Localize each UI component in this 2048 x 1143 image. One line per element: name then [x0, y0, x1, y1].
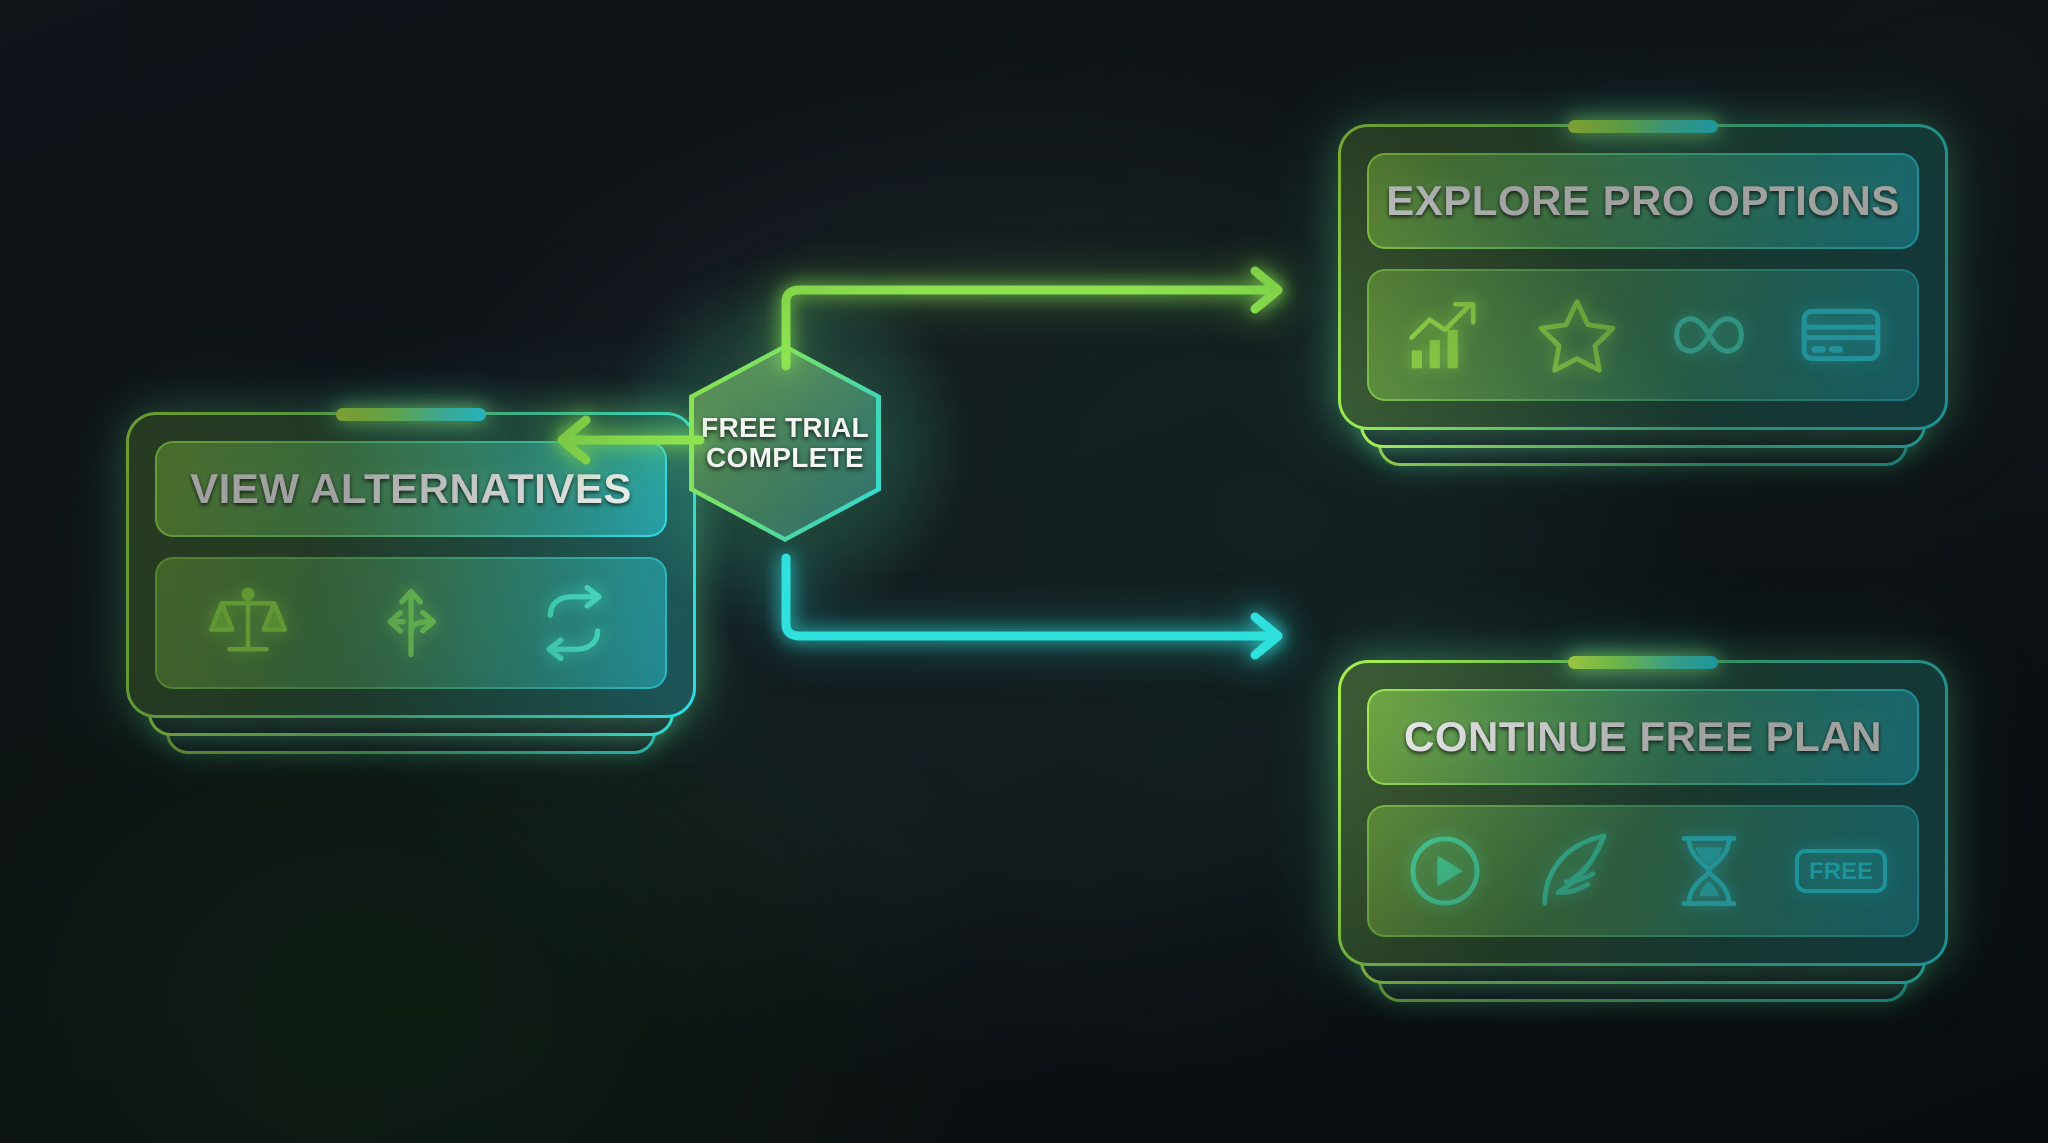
card-title: CONTINUE FREE PLAN — [1404, 713, 1882, 761]
growth-chart-icon — [1399, 289, 1491, 381]
card-accent-tab — [1568, 120, 1718, 133]
star-icon — [1531, 289, 1623, 381]
card-title-box: CONTINUE FREE PLAN — [1367, 689, 1919, 785]
wing-icon — [1531, 825, 1623, 917]
card-icon-row: FREE — [1367, 805, 1919, 937]
hub-node-free-trial-complete[interactable]: FREE TRIAL COMPLETE — [689, 344, 881, 542]
hourglass-icon — [1663, 825, 1755, 917]
free-badge-icon: FREE — [1795, 825, 1887, 917]
card-icon-row — [155, 557, 667, 689]
card-explore-pro-options[interactable]: EXPLORE PRO OPTIONS — [1338, 124, 1948, 430]
card-title: VIEW ALTERNATIVES — [190, 465, 632, 513]
card-continue-free-plan[interactable]: CONTINUE FREE PLAN — [1338, 660, 1948, 966]
diagram-canvas: VIEW ALTERNATIVES — [0, 0, 2048, 1143]
card-accent-tab — [336, 408, 486, 421]
card-title-box: EXPLORE PRO OPTIONS — [1367, 153, 1919, 249]
card-accent-tab — [1568, 656, 1718, 669]
hub-label-line1: FREE TRIAL — [701, 413, 869, 443]
card-body[interactable]: CONTINUE FREE PLAN — [1338, 660, 1948, 966]
play-circle-icon — [1399, 825, 1491, 917]
card-icon-row — [1367, 269, 1919, 401]
credit-card-icon — [1795, 289, 1887, 381]
branching-arrows-icon — [365, 577, 457, 669]
infinity-icon — [1663, 289, 1755, 381]
scales-icon — [202, 577, 294, 669]
swap-refresh-icon — [528, 577, 620, 669]
card-title: EXPLORE PRO OPTIONS — [1386, 177, 1900, 225]
free-badge-text: FREE — [1809, 858, 1873, 885]
hub-label-line2: COMPLETE — [706, 443, 864, 473]
card-body[interactable]: EXPLORE PRO OPTIONS — [1338, 124, 1948, 430]
card-title-box: VIEW ALTERNATIVES — [155, 441, 667, 537]
hub-label: FREE TRIAL COMPLETE — [689, 344, 881, 542]
